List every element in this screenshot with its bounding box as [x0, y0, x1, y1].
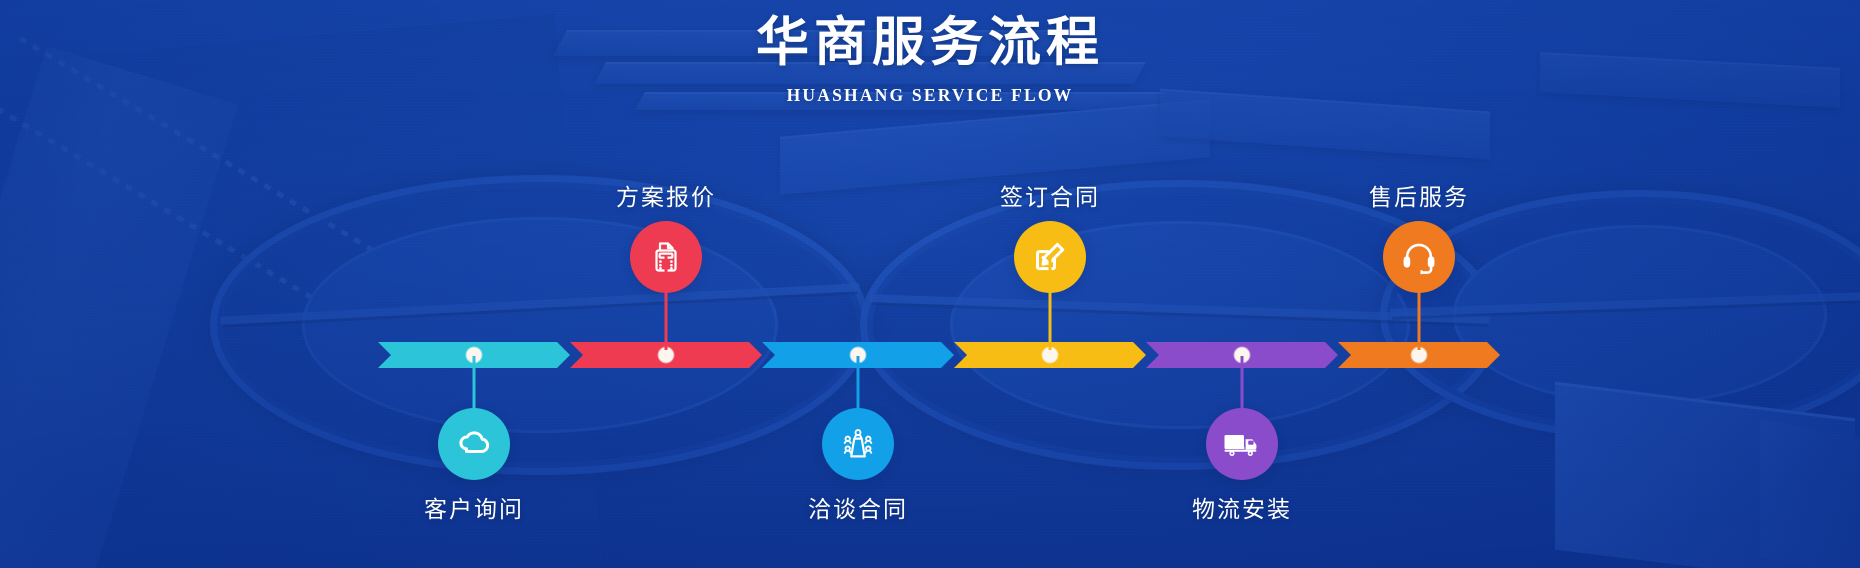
flow-step-5[interactable]: 物流安装: [1192, 408, 1292, 524]
flow-connector-line-4: [1049, 255, 1052, 350]
flow-connector-line-1: [473, 356, 476, 418]
flow-connector-line-6: [1418, 255, 1421, 350]
flow-arrow-bar: [378, 342, 1500, 368]
meeting-table-icon[interactable]: [822, 408, 894, 480]
flow-step-label-5: 物流安装: [1192, 490, 1292, 524]
flow-step-label-6: 售后服务: [1369, 178, 1469, 212]
flow-connector-line-3: [857, 356, 860, 418]
header-block: 华商服务流程 HUASHANG SERVICE FLOW: [0, 12, 1860, 106]
flow-step-label-1: 客户询问: [424, 490, 524, 524]
flow-step-label-2: 方案报价: [616, 178, 716, 212]
flow-connector-line-2: [665, 255, 668, 350]
page-title: 华商服务流程: [0, 12, 1860, 75]
delivery-truck-icon[interactable]: [1206, 408, 1278, 480]
flow-step-label-3: 洽谈合同: [808, 490, 908, 524]
flow-step-label-4: 签订合同: [1000, 178, 1100, 212]
flow-step-1[interactable]: 客户询问: [424, 408, 524, 524]
flow-step-3[interactable]: 洽谈合同: [808, 408, 908, 524]
cloud-chat-icon[interactable]: [438, 408, 510, 480]
flow-connector-line-5: [1241, 356, 1244, 418]
page-subtitle: HUASHANG SERVICE FLOW: [0, 85, 1860, 106]
